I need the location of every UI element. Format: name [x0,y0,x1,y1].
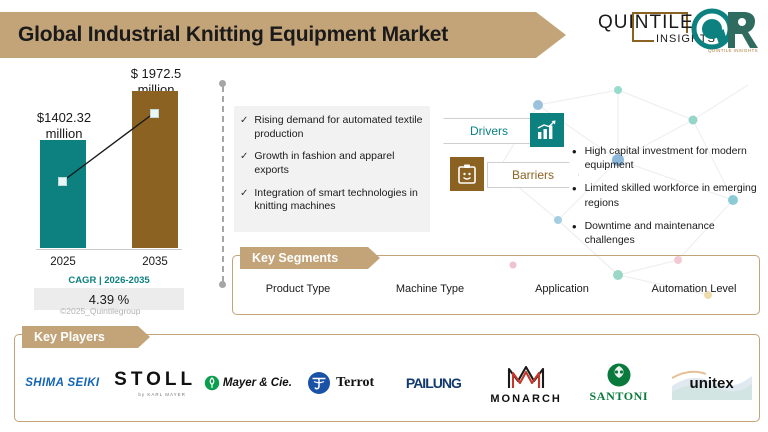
mayer-logo-group: Mayer & Cie. [204,375,292,391]
drivers-panel: ✓ Rising demand for automated textile pr… [234,106,430,232]
drivers-tag: Drivers [443,118,535,144]
player-logo-stoll: STOLL by KARL MAYER [109,348,202,418]
barriers-item-text: Limited skilled workforce in emerging re… [585,181,764,209]
terrot-wordmark: Terrot [336,375,374,391]
segment-item: Product Type [232,283,364,295]
mayer-wordmark: Mayer & Cie. [223,377,292,389]
player-logo-unitex: unitex [665,348,758,418]
check-icon: ✓ [240,187,248,214]
drivers-list-item: ✓ Rising demand for automated textile pr… [240,114,424,141]
marker-2025 [58,177,67,186]
segment-item: Machine Type [364,283,496,295]
x-tick-2035: 2035 [132,256,178,268]
infographic-page: Global Industrial Knitting Equipment Mar… [0,0,768,432]
santoni-emblem-icon [606,362,632,388]
monarch-emblem-icon [503,361,549,391]
player-logo-santoni: SANTONI [573,348,666,418]
key-segments-tab: Key Segments [240,247,380,269]
shima-seiki-wordmark: SHIMA SEIKI [25,377,99,389]
bullet-icon: • [572,181,577,209]
drivers-list-item: ✓ Integration of smart technologies in k… [240,187,424,214]
check-icon: ✓ [240,114,248,141]
monarch-wordmark: MONARCH [490,393,561,405]
barriers-item-text: High capital investment for modern equip… [585,144,764,172]
key-players-tab: Key Players [22,326,150,348]
key-players-row: SHIMA SEIKI STOLL by KARL MAYER Mayer & … [16,348,758,418]
player-logo-terrot: Terrot [294,348,387,418]
barriers-item-text: Downtime and maintenance challenges [585,219,764,247]
chart-axis [36,249,182,250]
barriers-list-item: • Limited skilled workforce in emerging … [572,181,764,209]
barriers-list-item: • Downtime and maintenance challenges [572,219,764,247]
terrot-emblem-icon [307,371,331,395]
divider-dashed-line [222,86,224,282]
player-logo-monarch: MONARCH [480,348,573,418]
growth-chart-glyph [536,119,558,141]
drivers-item-text: Integration of smart technologies in kni… [254,187,424,214]
stoll-sub-wordmark: by KARL MAYER [138,392,186,397]
barriers-list-item: • High capital investment for modern equ… [572,144,764,172]
cagr-label: CAGR | 2026-2035 [14,275,204,286]
logo-wordmark: QUINTILE [598,12,694,34]
check-icon: ✓ [240,150,248,177]
player-logo-pailung: PAILUNG [387,348,480,418]
drivers-item-text: Growth in fashion and apparel exports [254,150,424,177]
unitex-wordmark: unitex [690,375,734,392]
pailung-wordmark: PAILUNG [406,375,461,391]
drivers-list-item: ✓ Growth in fashion and apparel exports [240,150,424,177]
player-logo-mayer-cie: Mayer & Cie. [202,348,295,418]
clipboard-icon [450,157,484,191]
segment-item: Automation Level [628,283,760,295]
marker-2035 [150,109,159,118]
logo-tagline: QUINTILE INSIGHTS [708,48,758,53]
copyright-text: ©2025_Quintilegroup [60,306,140,316]
unitex-logo-group: unitex [672,366,752,400]
terrot-logo-group: Terrot [307,371,374,395]
growth-chart-icon [530,113,564,147]
qr-monogram-icon [690,8,760,52]
page-title: Global Industrial Knitting Equipment Mar… [0,23,448,47]
x-tick-2025: 2025 [40,256,86,268]
header-banner: Global Industrial Knitting Equipment Mar… [0,12,566,58]
player-logo-shima-seiki: SHIMA SEIKI [16,348,109,418]
mayer-emblem-icon [204,375,220,391]
barriers-tag: Barriers [487,162,579,188]
divider-dot-bottom [219,281,226,288]
brand-logo: QUINTILE INSIGHTS QUINTILE INSIGHTS [594,6,760,54]
bullet-icon: • [572,219,577,247]
vertical-divider [219,80,226,288]
segment-item: Application [496,283,628,295]
key-segments-row: Product Type Machine Type Application Au… [232,283,760,295]
stoll-wordmark: STOLL [114,369,196,391]
drivers-item-text: Rising demand for automated textile prod… [254,114,424,141]
bullet-icon: • [572,144,577,172]
barriers-list: • High capital investment for modern equ… [572,144,764,256]
clipboard-glyph [456,163,478,185]
santoni-wordmark: SANTONI [590,389,649,404]
market-size-chart: $ 1972.5 million $1402.32 million 2025 2… [14,66,204,316]
